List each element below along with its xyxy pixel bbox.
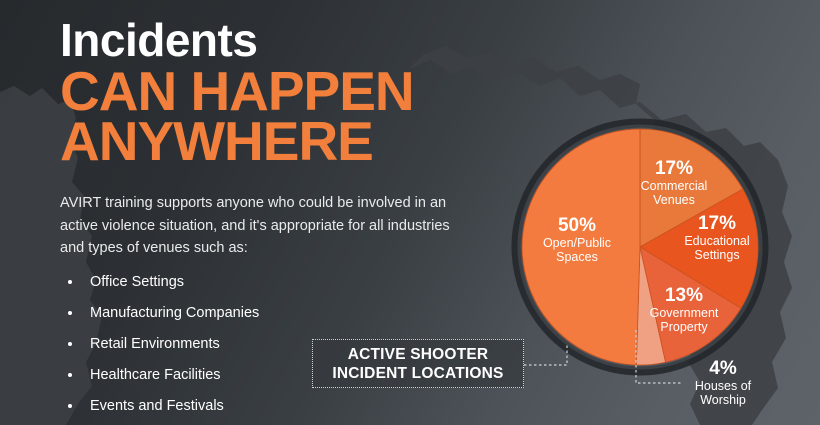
chart-title-callout: ACTIVE SHOOTER INCIDENT LOCATIONS xyxy=(312,339,524,388)
pie-label-open-public-spaces: 50% Open/Public Spaces xyxy=(528,215,626,264)
pie-name-open-public-spaces: Open/Public Spaces xyxy=(528,236,626,264)
pie-value-educational-settings: 17% xyxy=(668,213,766,234)
pie-label-houses-of-worship: 4% Houses of Worship xyxy=(676,358,770,407)
list-item-label: Retail Environments xyxy=(90,336,220,352)
pie-label-commercial-venues: 17% Commercial Venues xyxy=(622,158,726,207)
headline-block: Incidents CAN HAPPEN ANYWHERE xyxy=(60,14,530,166)
list-item: Office Settings xyxy=(60,272,390,292)
headline-line-1: Incidents xyxy=(60,14,530,66)
headline-orange: CAN HAPPEN ANYWHERE xyxy=(60,66,530,166)
infographic-canvas: Incidents CAN HAPPEN ANYWHERE AVIRT trai… xyxy=(0,0,820,425)
bullet-dot-icon xyxy=(68,373,72,377)
list-item-label: Office Settings xyxy=(90,274,184,290)
pie-name-educational-settings: Educational Settings xyxy=(668,234,766,262)
pie-label-educational-settings: 17% Educational Settings xyxy=(668,213,766,262)
list-item-label: Healthcare Facilities xyxy=(90,367,221,383)
headline-line-3: ANYWHERE xyxy=(60,116,530,166)
pie-name-houses-of-worship: Houses of Worship xyxy=(676,379,770,407)
pie-value-open-public-spaces: 50% xyxy=(528,215,626,236)
callout-line-1: ACTIVE SHOOTER xyxy=(348,345,489,364)
bullet-dot-icon xyxy=(68,342,72,346)
pie-label-government-property: 13% Government Property xyxy=(634,285,734,334)
headline-line-2: CAN HAPPEN xyxy=(60,66,530,116)
list-item-label: Manufacturing Companies xyxy=(90,305,259,321)
bullet-dot-icon xyxy=(68,280,72,284)
list-item: Events and Festivals xyxy=(60,396,390,416)
pie-name-government-property: Government Property xyxy=(634,306,734,334)
pie-value-government-property: 13% xyxy=(634,285,734,306)
lede-paragraph: AVIRT training supports anyone who could… xyxy=(60,192,450,260)
bullet-dot-icon xyxy=(68,311,72,315)
pie-name-commercial-venues: Commercial Venues xyxy=(622,179,726,207)
list-item-label: Events and Festivals xyxy=(90,398,224,414)
pie-value-houses-of-worship: 4% xyxy=(676,358,770,379)
list-item: Manufacturing Companies xyxy=(60,303,390,323)
bullet-dot-icon xyxy=(68,404,72,408)
pie-value-commercial-venues: 17% xyxy=(622,158,726,179)
callout-line-2: INCIDENT LOCATIONS xyxy=(332,364,503,383)
